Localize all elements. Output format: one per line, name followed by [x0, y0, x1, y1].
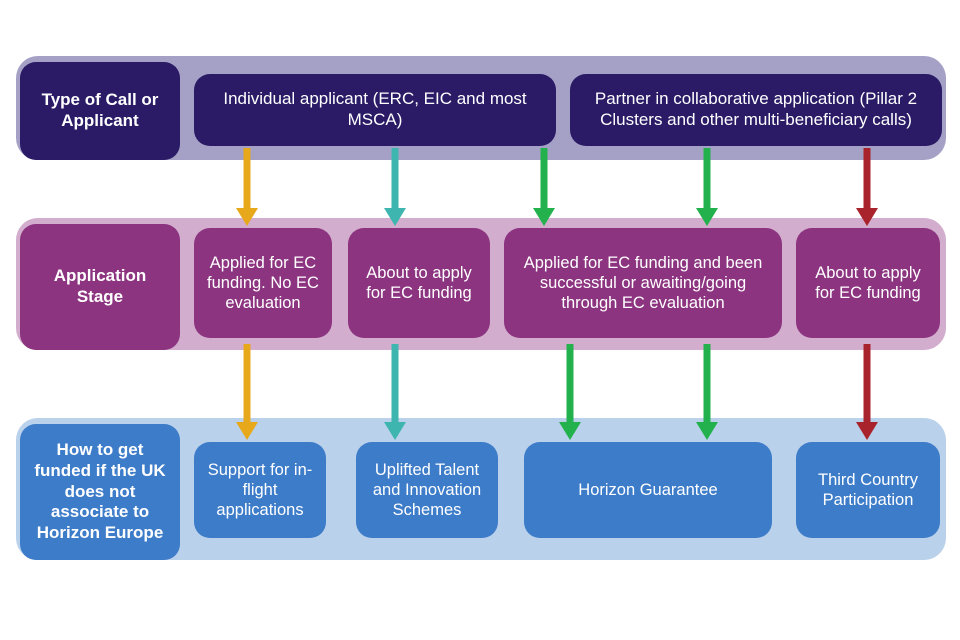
row-header-how-to-get-funded: How to get funded if the UK does not ass…: [20, 424, 180, 560]
arrow-head: [856, 422, 878, 440]
node-third-country-participation[interactable]: Third Country Participation: [796, 442, 940, 538]
node-label: Partner in collaborative application (Pi…: [580, 89, 932, 130]
arrow-green-a-top: [531, 148, 557, 226]
node-about-to-apply-2[interactable]: About to apply for EC funding: [796, 228, 940, 338]
arrow-amber-bottom: [234, 344, 260, 440]
arrow-crimson-top: [854, 148, 880, 226]
arrow-teal-bottom: [382, 344, 408, 440]
arrow-head: [384, 422, 406, 440]
arrow-shaft: [864, 148, 871, 210]
node-horizon-guarantee[interactable]: Horizon Guarantee: [524, 442, 772, 538]
node-support-in-flight[interactable]: Support for in-flight applications: [194, 442, 326, 538]
arrow-green-b-top: [694, 148, 720, 226]
node-applied-successful-or-awaiting[interactable]: Applied for EC funding and been successf…: [504, 228, 782, 338]
node-label: Applied for EC funding. No EC evaluation: [204, 253, 322, 313]
arrow-head: [696, 422, 718, 440]
arrow-crimson-bottom: [854, 344, 880, 440]
node-about-to-apply-1[interactable]: About to apply for EC funding: [348, 228, 490, 338]
node-uplifted-talent-innovation[interactable]: Uplifted Talent and Innovation Schemes: [356, 442, 498, 538]
arrow-head: [533, 208, 555, 226]
node-label: About to apply for EC funding: [358, 263, 480, 303]
flowchart-canvas: Type of Call or Applicant Individual app…: [0, 0, 960, 640]
arrow-head: [236, 208, 258, 226]
node-label: Support for in-flight applications: [204, 460, 316, 520]
row-header-application-stage: Application Stage: [20, 224, 180, 350]
node-label: Applied for EC funding and been successf…: [514, 253, 772, 313]
row-header-type-of-call: Type of Call or Applicant: [20, 62, 180, 160]
arrow-shaft: [392, 148, 399, 210]
arrow-shaft: [541, 148, 548, 210]
arrow-head: [559, 422, 581, 440]
arrow-head: [236, 422, 258, 440]
arrow-shaft: [244, 344, 251, 424]
node-label: Third Country Participation: [806, 470, 930, 510]
arrow-head: [384, 208, 406, 226]
row-header-label: How to get funded if the UK does not ass…: [30, 440, 170, 544]
arrow-teal-top: [382, 148, 408, 226]
node-individual-applicant[interactable]: Individual applicant (ERC, EIC and most …: [194, 74, 556, 146]
arrow-shaft: [704, 344, 711, 424]
arrow-shaft: [392, 344, 399, 424]
arrow-shaft: [567, 344, 574, 424]
row-header-label: Application Stage: [30, 266, 170, 307]
node-partner-collaborative[interactable]: Partner in collaborative application (Pi…: [570, 74, 942, 146]
node-label: Individual applicant (ERC, EIC and most …: [204, 89, 546, 130]
arrow-head: [856, 208, 878, 226]
arrow-green-b-bottom: [694, 344, 720, 440]
node-label: About to apply for EC funding: [806, 263, 930, 303]
arrow-shaft: [704, 148, 711, 210]
arrow-shaft: [244, 148, 251, 210]
node-label: Uplifted Talent and Innovation Schemes: [366, 460, 488, 520]
arrow-amber-top: [234, 148, 260, 226]
arrow-head: [696, 208, 718, 226]
node-applied-no-evaluation[interactable]: Applied for EC funding. No EC evaluation: [194, 228, 332, 338]
arrow-green-a-bottom: [557, 344, 583, 440]
row-header-label: Type of Call or Applicant: [30, 90, 170, 131]
arrow-shaft: [864, 344, 871, 424]
node-label: Horizon Guarantee: [534, 480, 762, 500]
